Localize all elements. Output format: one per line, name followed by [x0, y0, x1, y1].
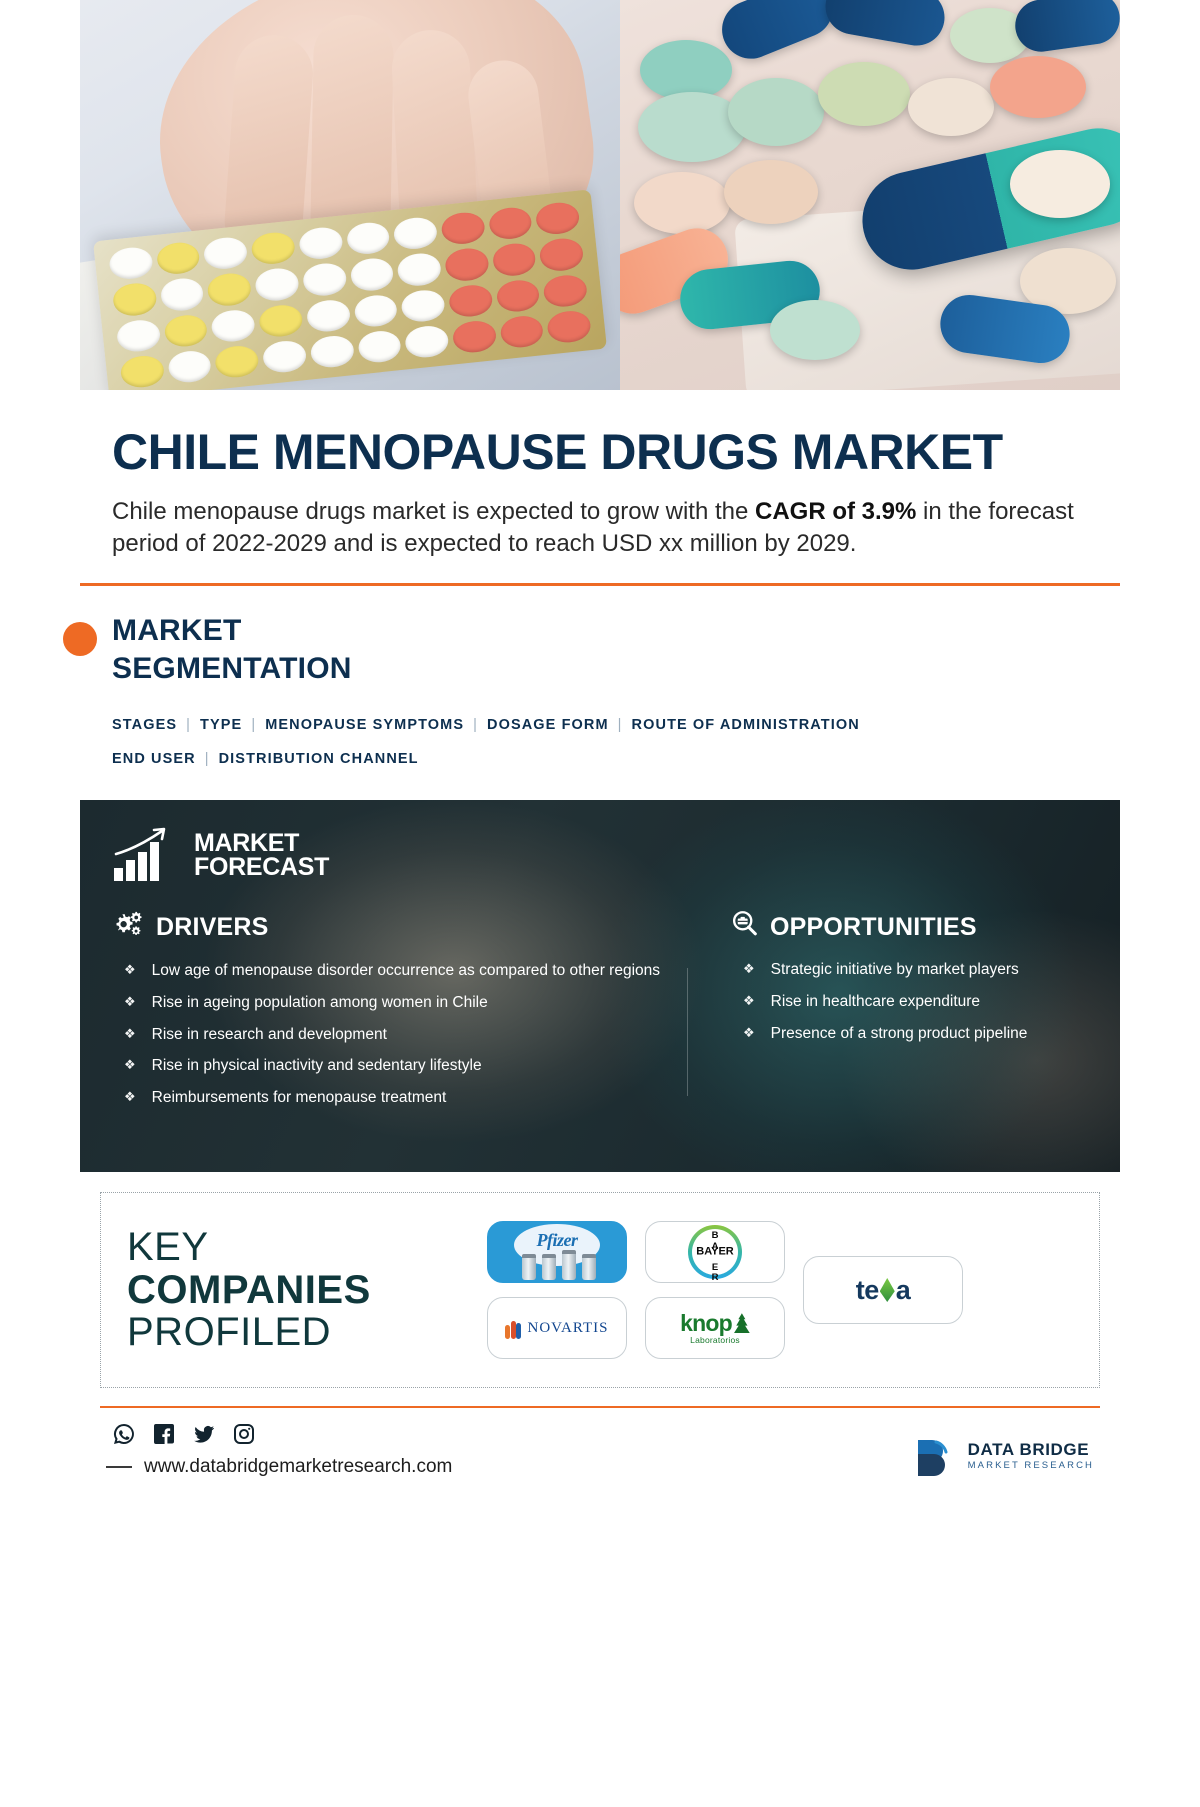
separator: | [464, 717, 487, 733]
gears-icon [112, 910, 144, 945]
list-item: ❖Presence of a strong product pipeline [731, 1024, 1088, 1045]
pfizer-logo[interactable]: Pfizer [487, 1221, 627, 1283]
market-forecast-logo: MARKET FORECAST [112, 824, 1088, 882]
instagram-icon[interactable] [232, 1422, 256, 1446]
tablet [818, 62, 910, 126]
drivers-list: ❖Low age of menopause disorder occurrenc… [112, 961, 663, 1109]
bayer-horizontal-letters: BAYER [696, 1247, 734, 1258]
teva-text-right: a [896, 1275, 911, 1306]
capsule [821, 0, 949, 50]
novartis-logo[interactable]: NOVARTIS [487, 1297, 627, 1359]
bullet-icon: ❖ [124, 1025, 136, 1046]
novartis-mark [505, 1317, 520, 1339]
separator: | [177, 717, 200, 733]
column-divider [687, 968, 688, 1096]
orange-dot-marker [63, 622, 97, 656]
footer: www.databridgemarketresearch.com DATA BR… [80, 1408, 1120, 1498]
forecast-logo-line2: FORECAST [194, 855, 329, 880]
list-item: ❖Reimbursements for menopause treatment [112, 1088, 663, 1109]
segmentation-title-line1: MARKET [112, 612, 1088, 650]
tablet [728, 78, 824, 146]
opportunity-text: Strategic initiative by market players [771, 960, 1019, 981]
bayer-logo[interactable]: BAYER BAYER [645, 1221, 785, 1283]
company-logos: Pfizer NOVARTIS [487, 1221, 1073, 1359]
subtitle-cagr: CAGR of 3.9% [755, 498, 916, 525]
bullet-icon: ❖ [743, 960, 755, 981]
website-url-row: www.databridgemarketresearch.com [106, 1456, 452, 1478]
page-title: CHILE MENOPAUSE DRUGS MARKET [112, 426, 1088, 480]
market-forecast-label: MARKET FORECAST [194, 831, 329, 883]
pfizer-wordmark: Pfizer [537, 1230, 578, 1251]
key-companies-section: KEY COMPANIES PROFILED Pfizer [80, 1172, 1120, 1388]
forecast-columns: DRIVERS ❖Low age of menopause disorder o… [112, 910, 1088, 1120]
list-item: ❖Low age of menopause disorder occurrenc… [112, 961, 663, 982]
opportunity-text: Rise in healthcare expenditure [771, 992, 980, 1013]
list-item: ❖Strategic initiative by market players [731, 960, 1088, 981]
title-block: CHILE MENOPAUSE DRUGS MARKET Chile menop… [80, 390, 1120, 583]
hero-image-blister-pack [80, 0, 620, 390]
knop-logo[interactable]: knop Laboratorios [645, 1297, 785, 1359]
logo-column-3: tea [803, 1256, 963, 1324]
driver-text: Rise in physical inactivity and sedentar… [152, 1056, 482, 1077]
bayer-cross-mark: BAYER BAYER [688, 1225, 742, 1279]
drivers-column: DRIVERS ❖Low age of menopause disorder o… [112, 910, 687, 1120]
hero-images [80, 0, 1120, 390]
segment-route-of-administration: ROUTE OF ADMINISTRATION [632, 717, 860, 733]
segment-type: TYPE [200, 717, 242, 733]
segment-menopause-symptoms: MENOPAUSE SYMPTOMS [265, 717, 464, 733]
segmentation-row-1: STAGES|TYPE|MENOPAUSE SYMPTOMS|DOSAGE FO… [112, 709, 1088, 742]
kc-line3: PROFILED [127, 1311, 487, 1354]
key-companies-title: KEY COMPANIES PROFILED [127, 1226, 487, 1354]
separator: | [242, 717, 265, 733]
infographic-poster: CHILE MENOPAUSE DRUGS MARKET Chile menop… [80, 0, 1120, 1807]
separator: | [196, 751, 219, 767]
market-forecast-section: MARKET FORECAST [80, 800, 1120, 1172]
drivers-heading: DRIVERS [112, 910, 663, 945]
hero-image-pills [620, 0, 1120, 390]
tablet [908, 78, 994, 136]
segmentation-row-2: END USER|DISTRIBUTION CHANNEL [112, 743, 1088, 776]
tree-icon [734, 1313, 750, 1333]
kc-line2: COMPANIES [127, 1269, 487, 1312]
blister-pack [93, 189, 607, 390]
teva-wordmark: tea [856, 1275, 911, 1306]
capsule [713, 0, 841, 67]
segment-end-user: END USER [112, 751, 196, 767]
subtitle-part1: Chile menopause drugs market is expected… [112, 498, 755, 525]
list-item: ❖Rise in research and development [112, 1025, 663, 1046]
website-url[interactable]: www.databridgemarketresearch.com [144, 1456, 452, 1478]
teva-logo[interactable]: tea [803, 1256, 963, 1324]
tablet [1010, 150, 1110, 218]
key-companies-box: KEY COMPANIES PROFILED Pfizer [100, 1192, 1100, 1388]
social-icons [106, 1422, 452, 1446]
leaf-icon [880, 1278, 895, 1302]
dbmr-brand-line2: MARKET RESEARCH [968, 1461, 1094, 1471]
drivers-title: DRIVERS [156, 913, 269, 942]
tablet [634, 172, 730, 234]
kc-line1: KEY [127, 1226, 487, 1269]
market-segmentation-section: MARKET SEGMENTATION STAGES|TYPE|MENOPAUS… [80, 586, 1120, 800]
tablet [640, 40, 732, 100]
segmentation-title-line2: SEGMENTATION [112, 650, 1088, 688]
bullet-icon: ❖ [124, 1088, 136, 1109]
knop-subtext: Laboratorios [680, 1336, 750, 1345]
knop-wordmark: knop [680, 1312, 750, 1335]
driver-text: Reimbursements for menopause treatment [152, 1088, 447, 1109]
dbmr-brand-line1: DATA BRIDGE [968, 1441, 1094, 1459]
list-item: ❖Rise in ageing population among women i… [112, 993, 663, 1014]
tablet [770, 300, 860, 360]
growth-chart-icon [112, 824, 182, 882]
logo-column-2: BAYER BAYER knop Laboratorios [645, 1221, 785, 1359]
page-subtitle: Chile menopause drugs market is expected… [112, 496, 1077, 561]
segment-distribution-channel: DISTRIBUTION CHANNEL [219, 751, 419, 767]
bullet-icon: ❖ [124, 1056, 136, 1077]
list-item: ❖Rise in physical inactivity and sedenta… [112, 1056, 663, 1077]
knop-text: knop [680, 1312, 732, 1335]
opportunities-title: OPPORTUNITIES [770, 913, 977, 942]
driver-text: Rise in research and development [152, 1025, 387, 1046]
tablet [990, 56, 1086, 118]
forecast-logo-line1: MARKET [194, 831, 329, 856]
bullet-icon: ❖ [743, 1024, 755, 1045]
twitter-icon[interactable] [192, 1422, 216, 1446]
novartis-wordmark: NOVARTIS [527, 1320, 608, 1337]
whatsapp-icon[interactable] [112, 1422, 136, 1446]
vial [542, 1254, 556, 1280]
segmentation-tags: STAGES|TYPE|MENOPAUSE SYMPTOMS|DOSAGE FO… [112, 709, 1088, 776]
bullet-icon: ❖ [743, 992, 755, 1013]
teva-text-left: te [856, 1275, 879, 1306]
driver-text: Low age of menopause disorder occurrence… [152, 961, 660, 982]
driver-text: Rise in ageing population among women in… [152, 993, 488, 1014]
dash-decoration [106, 1466, 132, 1468]
data-bridge-mark-icon [912, 1434, 958, 1478]
magnifier-briefcase-icon [731, 910, 758, 944]
bullet-icon: ❖ [124, 961, 136, 982]
facebook-icon[interactable] [152, 1422, 176, 1446]
opportunities-heading: OPPORTUNITIES [731, 910, 1088, 944]
segmentation-title: MARKET SEGMENTATION [112, 612, 1088, 688]
vial [562, 1250, 576, 1280]
opportunities-column: OPPORTUNITIES ❖Strategic initiative by m… [687, 910, 1088, 1120]
segment-dosage-form: DOSAGE FORM [487, 717, 609, 733]
bullet-icon: ❖ [124, 993, 136, 1014]
vial [522, 1254, 536, 1280]
dbmr-logo: DATA BRIDGE MARKET RESEARCH [912, 1434, 1094, 1478]
list-item: ❖Rise in healthcare expenditure [731, 992, 1088, 1013]
opportunity-text: Presence of a strong product pipeline [771, 1024, 1028, 1045]
logo-column-1: Pfizer NOVARTIS [487, 1221, 627, 1359]
tablet [724, 160, 818, 224]
vial [582, 1254, 596, 1280]
pill-grid [108, 201, 592, 390]
capsule [1012, 0, 1120, 55]
segment-stages: STAGES [112, 717, 177, 733]
separator: | [609, 717, 632, 733]
opportunities-list: ❖Strategic initiative by market players … [731, 960, 1088, 1044]
